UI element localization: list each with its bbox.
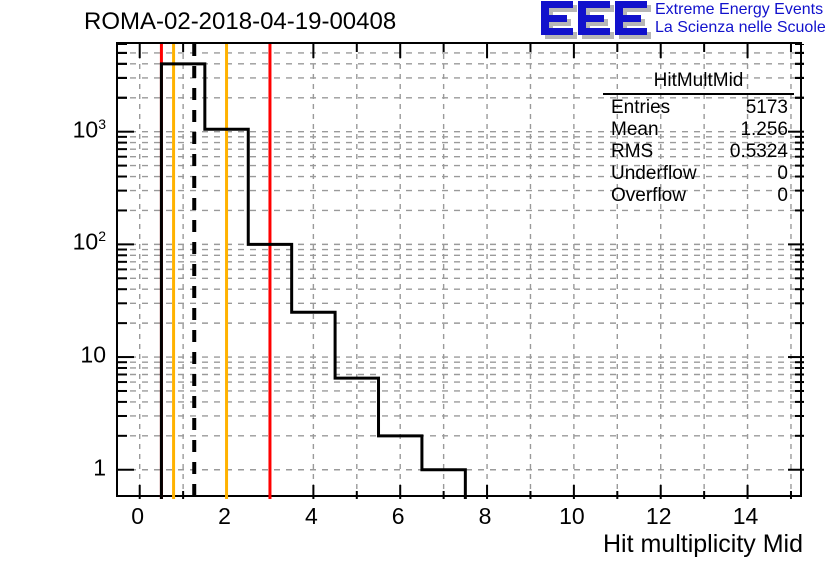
x-tick-label: 12 (646, 503, 672, 530)
x-tick-label: 14 (733, 503, 759, 530)
stats-box: HitMultMid Entries5173Mean1.256RMS0.5324… (603, 70, 794, 207)
stats-row-key: Entries (611, 97, 670, 119)
stats-row-value: 0 (777, 163, 788, 185)
eee-logo: Extreme Energy Events La Scienza nelle S… (541, 1, 833, 39)
x-tick-label: 10 (559, 503, 585, 530)
stats-row-value: 1.256 (740, 119, 788, 141)
stats-row: Underflow0 (603, 163, 794, 185)
x-axis-title: Hit multiplicity Mid (603, 530, 803, 559)
stats-row-key: Underflow (611, 163, 697, 185)
x-tick-label: 6 (392, 503, 405, 530)
y-tick-label: 10 (80, 342, 106, 369)
logo-letter-e-2 (578, 1, 610, 35)
x-tick-label: 0 (131, 503, 144, 530)
logo-text-line-1: Extreme Energy Events (655, 1, 826, 19)
y-tick-label: 102 (73, 229, 106, 256)
stats-row: Overflow0 (603, 185, 794, 207)
logo-letter-e-2-main (578, 1, 610, 35)
stats-row: RMS0.5324 (603, 141, 794, 163)
x-tick-label: 4 (305, 503, 318, 530)
logo-letter-e-3 (615, 1, 647, 35)
stats-row-key: Mean (611, 119, 659, 141)
stats-row: Mean1.256 (603, 119, 794, 141)
histogram-canvas: ROMA-02-2018-04-19-00408 (0, 0, 836, 572)
logo-text: Extreme Energy Events La Scienza nelle S… (655, 1, 826, 37)
y-tick-label: 1 (93, 454, 106, 481)
stats-rows: Entries5173Mean1.256RMS0.5324Underflow0O… (603, 97, 794, 207)
x-tick-label: 2 (218, 503, 231, 530)
logo-letter-e-1-main (541, 1, 573, 35)
stats-row-key: Overflow (611, 185, 686, 207)
y-tick-label: 103 (73, 116, 106, 143)
x-tick-label: 8 (479, 503, 492, 530)
stats-row-value: 0.5324 (730, 141, 788, 163)
logo-letter-e-3-main (615, 1, 647, 35)
stats-row-value: 5173 (746, 97, 788, 119)
stats-row-value: 0 (777, 185, 788, 207)
page-title: ROMA-02-2018-04-19-00408 (84, 8, 396, 36)
logo-letter-e-1 (541, 1, 573, 35)
stats-row-key: RMS (611, 141, 653, 163)
stats-row: Entries5173 (603, 97, 794, 119)
stats-box-title: HitMultMid (603, 70, 794, 95)
logo-text-line-2: La Scienza nelle Scuole (655, 19, 826, 37)
